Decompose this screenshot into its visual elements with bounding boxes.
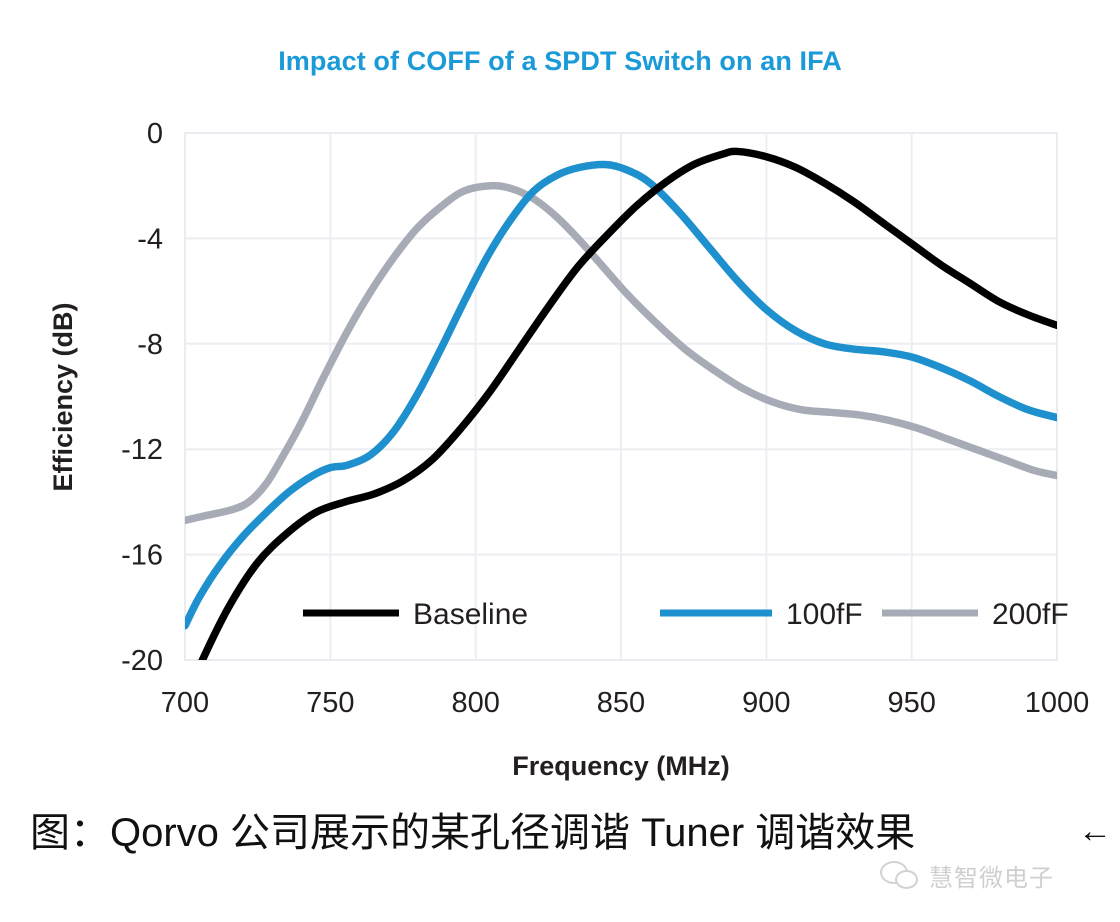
x-axis-title: Frequency (MHz) — [512, 751, 730, 781]
legend-label-baseline: Baseline — [413, 598, 528, 631]
x-tick-label: 750 — [306, 687, 354, 719]
chart-figure: Impact of COFF of a SPDT Switch on an IF… — [0, 0, 1120, 790]
chart-plot: 0-4-8-12-16-20 7007508008509009501000 Ef… — [0, 0, 1120, 790]
y-tick-labels: 0-4-8-12-16-20 — [121, 118, 163, 677]
y-tick-label: -12 — [121, 434, 163, 466]
figure-caption: 图：Qorvo 公司展示的某孔径调谐 Tuner 调谐效果 — [30, 800, 915, 858]
y-tick-label: -16 — [121, 540, 163, 572]
x-tick-label: 700 — [161, 687, 209, 719]
x-tick-labels: 7007508008509009501000 — [161, 687, 1089, 719]
legend-label-100ff: 100fF — [786, 598, 863, 631]
x-tick-label: 950 — [887, 687, 935, 719]
x-tick-label: 850 — [597, 687, 645, 719]
y-axis-title: Efficiency (dB) — [48, 302, 78, 491]
x-tick-label: 1000 — [1025, 687, 1090, 719]
y-tick-label: 0 — [147, 118, 163, 150]
wechat-icon — [880, 861, 922, 891]
legend-label-200ff: 200fF — [992, 598, 1069, 631]
x-tick-label: 900 — [742, 687, 790, 719]
chart-legend: Baseline100fF200fF — [303, 598, 1069, 631]
watermark-text: 慧智微电子 — [929, 858, 1054, 893]
y-tick-label: -8 — [137, 329, 163, 361]
y-tick-label: -4 — [137, 223, 163, 255]
y-tick-label: -20 — [121, 645, 163, 677]
caption-arrow-icon: ← — [1078, 812, 1112, 851]
watermark: 慧智微电子 — [880, 858, 1054, 893]
x-tick-label: 800 — [451, 687, 499, 719]
